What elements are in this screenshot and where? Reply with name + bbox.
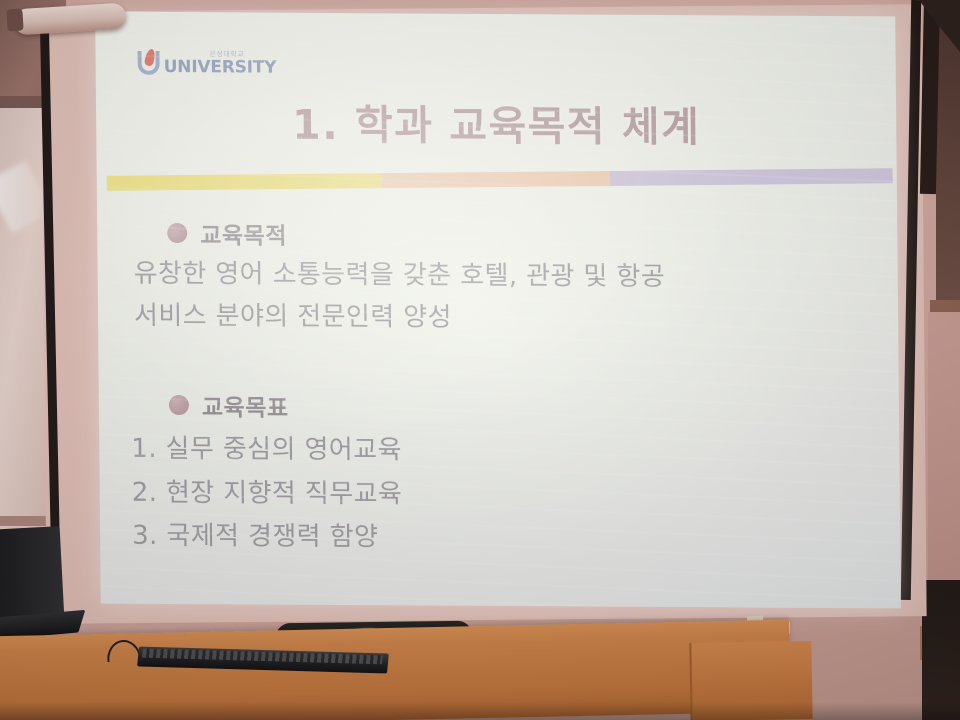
- purpose-line-1: 유창한 영어 소통능력을 갖춘 호텔, 관광 및 항공: [133, 255, 877, 299]
- right-wall-shelf: [930, 300, 960, 312]
- section-education-objectives: 교육목표 1. 실무 중심의 영어교육 2. 현장 지향적 직무교육 3. 국제…: [131, 388, 881, 564]
- screen-roller-end-cap: [6, 9, 23, 32]
- bar-segment-peach: [382, 171, 610, 188]
- bar-segment-lavender: [610, 168, 893, 186]
- filled-circle-bullet-icon: [169, 395, 189, 415]
- tricolor-divider-bar: [107, 168, 893, 191]
- logo-korean-name: 은성대학교: [210, 51, 277, 58]
- bar-segment-yellow: [107, 173, 382, 191]
- floor-shadow: [0, 702, 960, 720]
- objectives-list: 1. 실무 중심의 영어교육 2. 현장 지향적 직무교육 3. 국제적 경쟁력…: [131, 428, 880, 564]
- lecture-room-photo: 은성대학교 UNIVERSITY 1. 학과 교육목적 체계 교육목적 유창한 …: [0, 0, 960, 720]
- university-logo: 은성대학교 UNIVERSITY: [137, 50, 276, 77]
- right-dark-column: [922, 580, 960, 720]
- section-education-purpose: 교육목적 유창한 영어 소통능력을 갖춘 호텔, 관광 및 항공 서비스 분야의…: [129, 216, 878, 341]
- list-item: 1. 실무 중심의 영어교육: [131, 428, 879, 476]
- right-wall-lower: [928, 312, 960, 612]
- list-item: 3. 국제적 경쟁력 함양: [132, 515, 880, 563]
- slide-title: 1. 학과 교육목적 체계: [96, 90, 897, 155]
- projected-slide: 은성대학교 UNIVERSITY 1. 학과 교육목적 체계 교육목적 유창한 …: [95, 12, 901, 609]
- slide-body: 교육목적 유창한 영어 소통능력을 갖춘 호텔, 관광 및 항공 서비스 분야의…: [129, 216, 880, 570]
- computer-monitor: [0, 526, 64, 622]
- filled-circle-bullet-icon: [167, 223, 187, 243]
- purpose-line-2: 서비스 분야의 전문인력 양성: [134, 296, 878, 340]
- university-u-flame-icon: [137, 50, 160, 76]
- list-item: 2. 현장 지향적 직무교육: [132, 471, 880, 519]
- logo-english-name: UNIVERSITY: [164, 59, 277, 77]
- section-heading-purpose: 교육목적: [200, 216, 287, 251]
- section-heading-objectives: 교육목표: [202, 388, 289, 423]
- section-spacer: [130, 342, 879, 393]
